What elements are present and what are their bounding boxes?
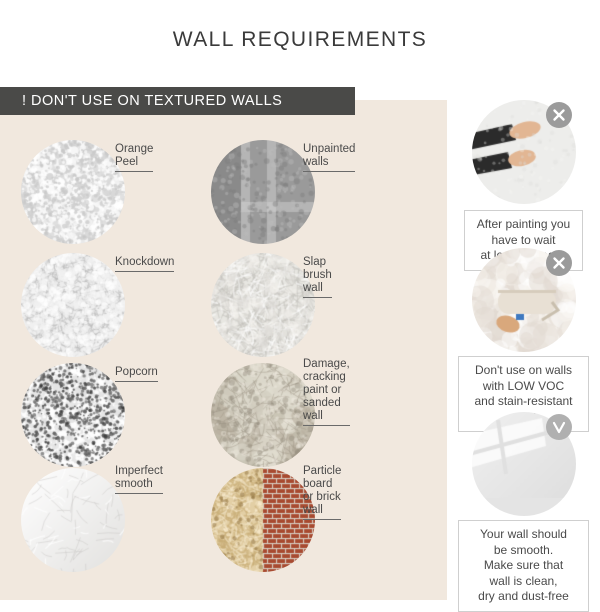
recommendation-text: Your wall should be smooth. Make sure th… [458,520,589,612]
texture-label: Slap brush wall [303,256,332,298]
slap-brush-texture-icon [211,253,315,357]
check-icon [546,414,572,440]
knockdown-texture-icon [21,253,125,357]
damaged-wall-texture-icon [211,363,315,467]
texture-label: Unpainted walls [303,143,355,172]
recommendation-card-wait-4-weeks: After painting you have to wait at least… [447,100,600,271]
texture-grid: Orange Peel Unpainted walls Knockdown Sl… [0,100,447,600]
texture-label: Popcorn [115,366,158,382]
orange-peel-texture-icon [21,140,125,244]
texture-label: Orange Peel [115,143,153,172]
recommendation-column: After painting you have to wait at least… [447,0,600,600]
imperfect-smooth-texture-icon [21,468,125,572]
texture-label: Particle board or brick wall [303,465,341,520]
texture-label: Imperfect smooth [115,465,163,494]
recommendation-card-smooth-clean: Your wall should be smooth. Make sure th… [447,412,600,612]
particle-board-brick-photo-icon [211,468,315,572]
recommendation-card-low-voc: Don't use on walls with LOW VOC and stai… [447,248,600,432]
cross-icon [546,102,572,128]
texture-label: Damage, cracking paint or sanded wall [303,358,350,426]
cross-icon [546,250,572,276]
texture-label: Knockdown [115,256,174,272]
unpainted-wall-photo-icon [211,140,315,244]
popcorn-texture-icon [21,363,125,467]
